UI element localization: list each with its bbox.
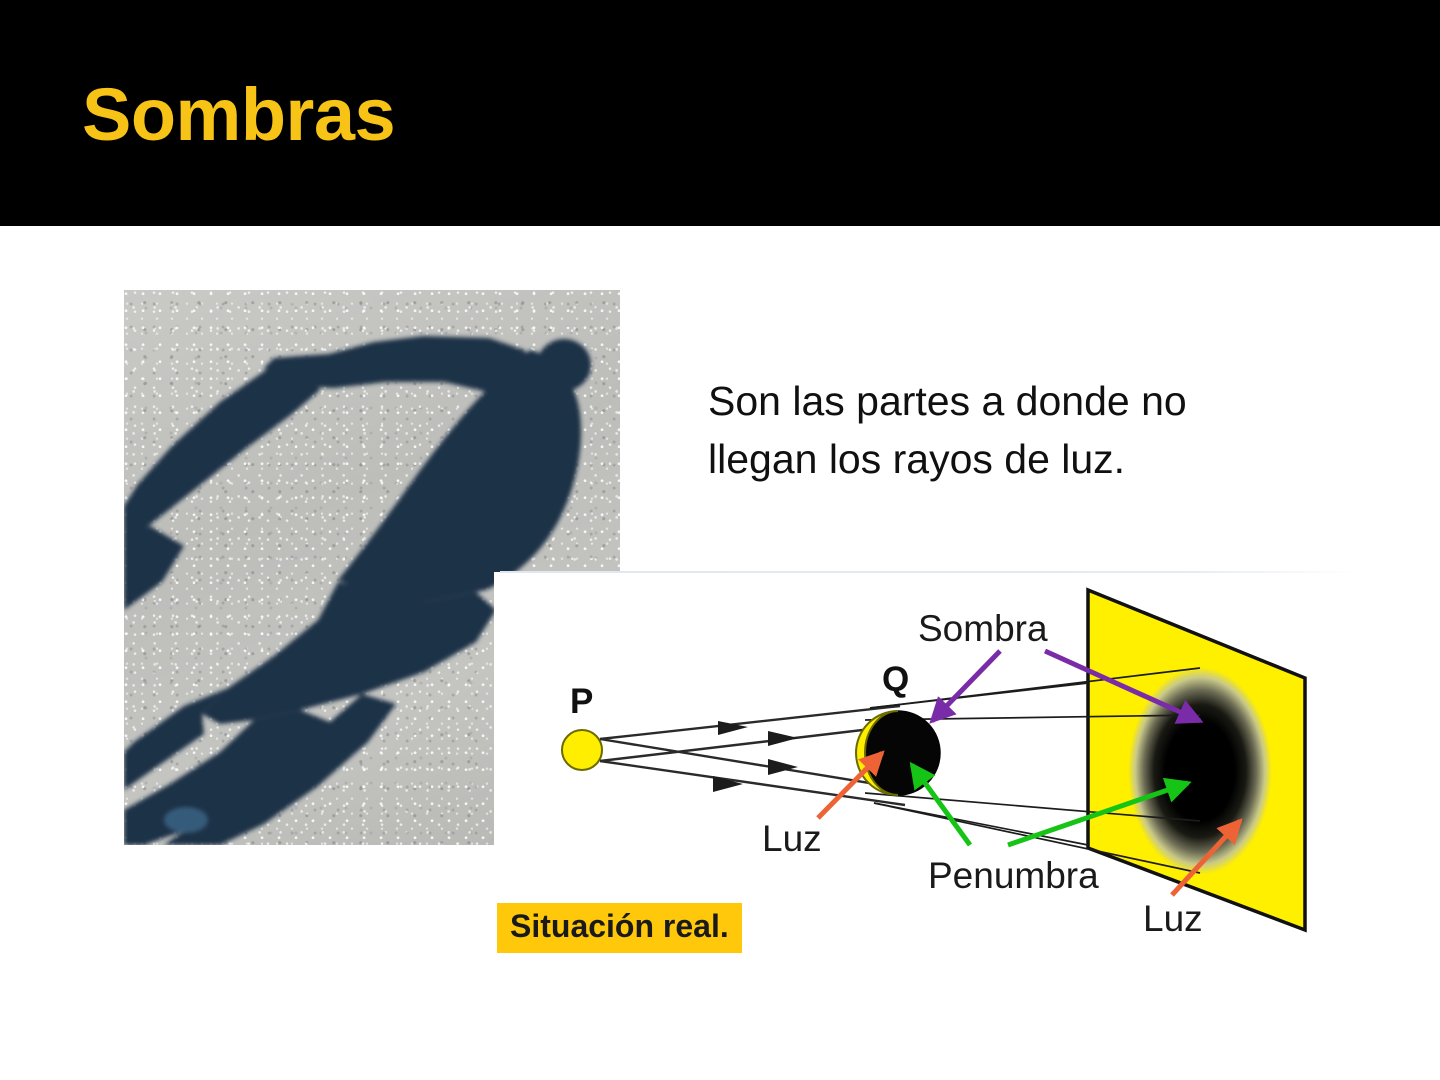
label-p: P bbox=[570, 682, 593, 721]
label-penumbra: Penumbra bbox=[928, 855, 1099, 896]
body-line-1: Son las partes a donde no bbox=[708, 372, 1328, 430]
page-title: Sombras bbox=[82, 78, 395, 152]
optics-diagram: P bbox=[500, 573, 1360, 953]
light-source-p bbox=[562, 730, 602, 770]
ray-1 bbox=[600, 706, 900, 739]
body-line-2: llegan los rayos de luz. bbox=[708, 430, 1328, 488]
caption-situacion-real: Situación real. bbox=[497, 903, 742, 953]
label-sombra: Sombra bbox=[918, 608, 1048, 649]
title-banner: Sombras bbox=[0, 0, 1440, 226]
label-luz-left: Luz bbox=[762, 818, 822, 859]
penumbra-arrow-left bbox=[912, 765, 970, 845]
label-q: Q bbox=[882, 660, 909, 699]
slide-canvas: Sombras bbox=[0, 0, 1440, 1080]
label-luz-right: Luz bbox=[1143, 898, 1203, 939]
optics-diagram-svg: P bbox=[500, 573, 1360, 953]
body-paragraph: Son las partes a donde no llegan los ray… bbox=[708, 372, 1328, 488]
ray-arrowheads bbox=[713, 721, 798, 792]
sombra-arrow-left bbox=[932, 651, 1000, 721]
